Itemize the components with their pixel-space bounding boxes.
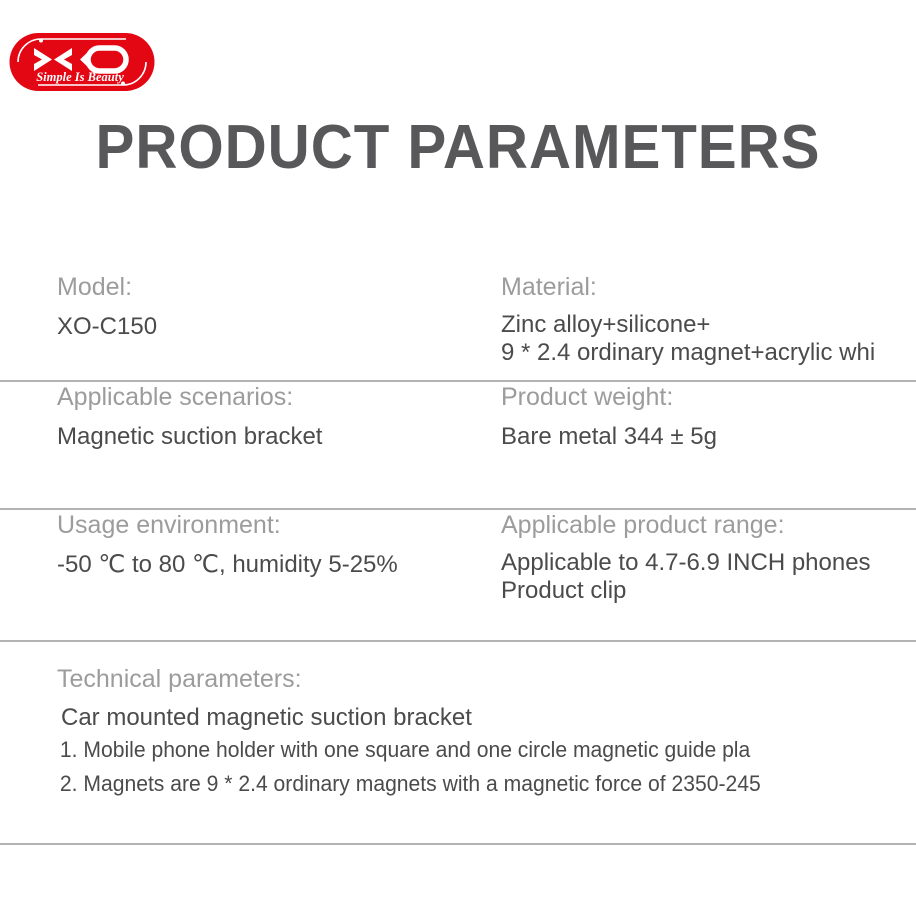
technical-parameters-label: Technical parameters:	[57, 664, 916, 694]
brand-logo: Simple Is Beauty	[8, 31, 156, 93]
spec-value-line: Applicable to 4.7-6.9 INCH phones	[501, 549, 916, 577]
spec-cell-usage-environment: Usage environment: -50 ℃ to 80 ℃, humidi…	[57, 510, 497, 580]
spec-cell-applicable-scenarios: Applicable scenarios: Magnetic suction b…	[57, 382, 497, 452]
table-row: Applicable scenarios: Magnetic suction b…	[0, 382, 916, 510]
spec-label: Applicable scenarios:	[57, 382, 497, 412]
spec-value-line: Product clip	[501, 577, 916, 605]
spec-cell-product-weight: Product weight: Bare metal 344 ± 5g	[501, 382, 916, 452]
technical-parameters-headline: Car mounted magnetic suction bracket	[57, 702, 916, 733]
spec-label: Applicable product range:	[501, 510, 916, 540]
spec-value-line: -50 ℃ to 80 ℃, humidity 5-25%	[57, 549, 497, 580]
table-row: Usage environment: -50 ℃ to 80 ℃, humidi…	[0, 510, 916, 642]
xo-logo-icon: Simple Is Beauty	[8, 31, 156, 93]
spec-value: XO-C150	[57, 311, 497, 342]
technical-parameters-section: Technical parameters: Car mounted magnet…	[0, 664, 916, 845]
svg-text:Simple Is Beauty: Simple Is Beauty	[36, 70, 124, 84]
spec-value: Zinc alloy+silicone+ 9 * 2.4 ordinary ma…	[501, 311, 916, 367]
spec-label: Material:	[501, 272, 916, 302]
table-row: Model: XO-C150 Material: Zinc alloy+sili…	[0, 272, 916, 382]
spec-label: Model:	[57, 272, 497, 302]
spec-cell-material: Material: Zinc alloy+silicone+ 9 * 2.4 o…	[501, 272, 916, 367]
page-title: PRODUCT PARAMETERS	[27, 117, 888, 179]
spec-value: -50 ℃ to 80 ℃, humidity 5-25%	[57, 549, 497, 580]
spec-table: Model: XO-C150 Material: Zinc alloy+sili…	[0, 272, 916, 642]
spec-label: Product weight:	[501, 382, 916, 412]
spec-cell-applicable-product-range: Applicable product range: Applicable to …	[501, 510, 916, 605]
spec-value: Applicable to 4.7-6.9 INCH phones Produc…	[501, 549, 916, 605]
spec-value-line: 9 * 2.4 ordinary magnet+acrylic whi	[501, 339, 916, 367]
spec-value-line: XO-C150	[57, 311, 497, 342]
spec-value-line: Zinc alloy+silicone+	[501, 311, 916, 339]
spec-cell-model: Model: XO-C150	[57, 272, 497, 342]
list-item: 2. Magnets are 9 * 2.4 ordinary magnets …	[57, 767, 882, 801]
spec-value: Bare metal 344 ± 5g	[501, 421, 916, 452]
spec-value: Magnetic suction bracket	[57, 421, 497, 452]
spec-label: Usage environment:	[57, 510, 497, 540]
spec-value-line: Magnetic suction bracket	[57, 421, 497, 452]
list-item: 1. Mobile phone holder with one square a…	[57, 733, 882, 767]
spec-value-line: Bare metal 344 ± 5g	[501, 421, 916, 452]
